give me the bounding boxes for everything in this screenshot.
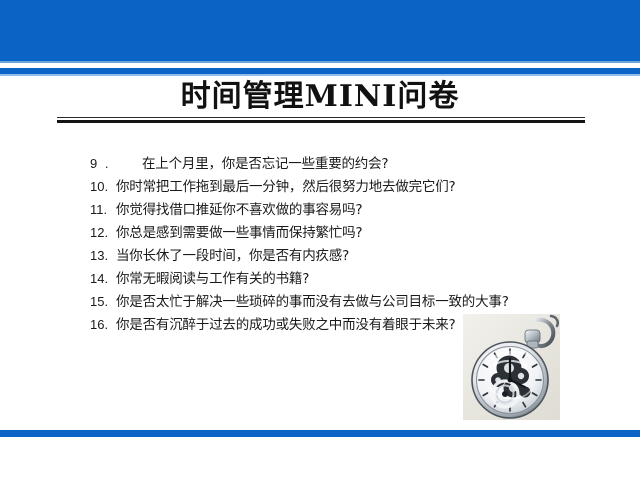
pocket-watch-icon (463, 314, 560, 420)
list-item-number: 15. (90, 294, 116, 309)
list-item-text: 你觉得找借口推延你不喜欢做的事容易吗? (116, 198, 560, 218)
list-item-text: 你是否太忙于解决一些琐碎的事而没有去做与公司目标一致的大事? (116, 290, 560, 310)
list-item-number: 12. (90, 225, 116, 240)
list-item: 10. 你时常把工作拖到最后一分钟，然后很努力地去做完它们? (90, 175, 560, 198)
list-item: 11. 你觉得找借口推延你不喜欢做的事容易吗? (90, 198, 560, 221)
list-item-text: 当你长休了一段时间，你是否有内疚感? (116, 244, 560, 264)
list-item-number: 16. (90, 317, 116, 332)
header-blue-rule-shadow (0, 74, 640, 76)
list-item-number: 14. (90, 271, 116, 286)
footer-blue-bar (0, 430, 640, 437)
title-underline-thin (57, 117, 585, 118)
list-item-number: 11. (90, 202, 116, 217)
list-item: 12. 你总是感到需要做一些事情而保持繁忙吗? (90, 221, 560, 244)
page-title: 时间管理MINI问卷 (181, 79, 460, 114)
list-item-text: 你常无暇阅读与工作有关的书籍? (116, 267, 560, 287)
question-list: 9 . 在上个月里，你是否忘记一些重要的约会? 10. 你时常把工作拖到最后一分… (90, 152, 560, 336)
list-item-number: 9 . (90, 156, 116, 171)
pocket-watch-image (463, 314, 560, 420)
list-item: 15. 你是否太忙于解决一些琐碎的事而没有去做与公司目标一致的大事? (90, 290, 560, 313)
list-item: 13. 当你长休了一段时间，你是否有内疚感? (90, 244, 560, 267)
list-item: 9 . 在上个月里，你是否忘记一些重要的约会? (90, 152, 560, 175)
list-item: 14. 你常无暇阅读与工作有关的书籍? (90, 267, 560, 290)
list-item-number: 10. (90, 179, 116, 194)
list-item-text: 在上个月里，你是否忘记一些重要的约会? (116, 152, 560, 172)
title-underline-thick (57, 120, 585, 123)
list-item-text: 你时常把工作拖到最后一分钟，然后很努力地去做完它们? (116, 175, 560, 195)
header-blue-band (0, 0, 640, 61)
list-item-number: 13. (90, 248, 116, 263)
slide-title-area: 时间管理MINI问卷 (0, 78, 640, 116)
slide-canvas: 时间管理MINI问卷 9 . 在上个月里，你是否忘记一些重要的约会? 10. 你… (0, 0, 640, 480)
list-item-text: 你总是感到需要做一些事情而保持繁忙吗? (116, 221, 560, 241)
